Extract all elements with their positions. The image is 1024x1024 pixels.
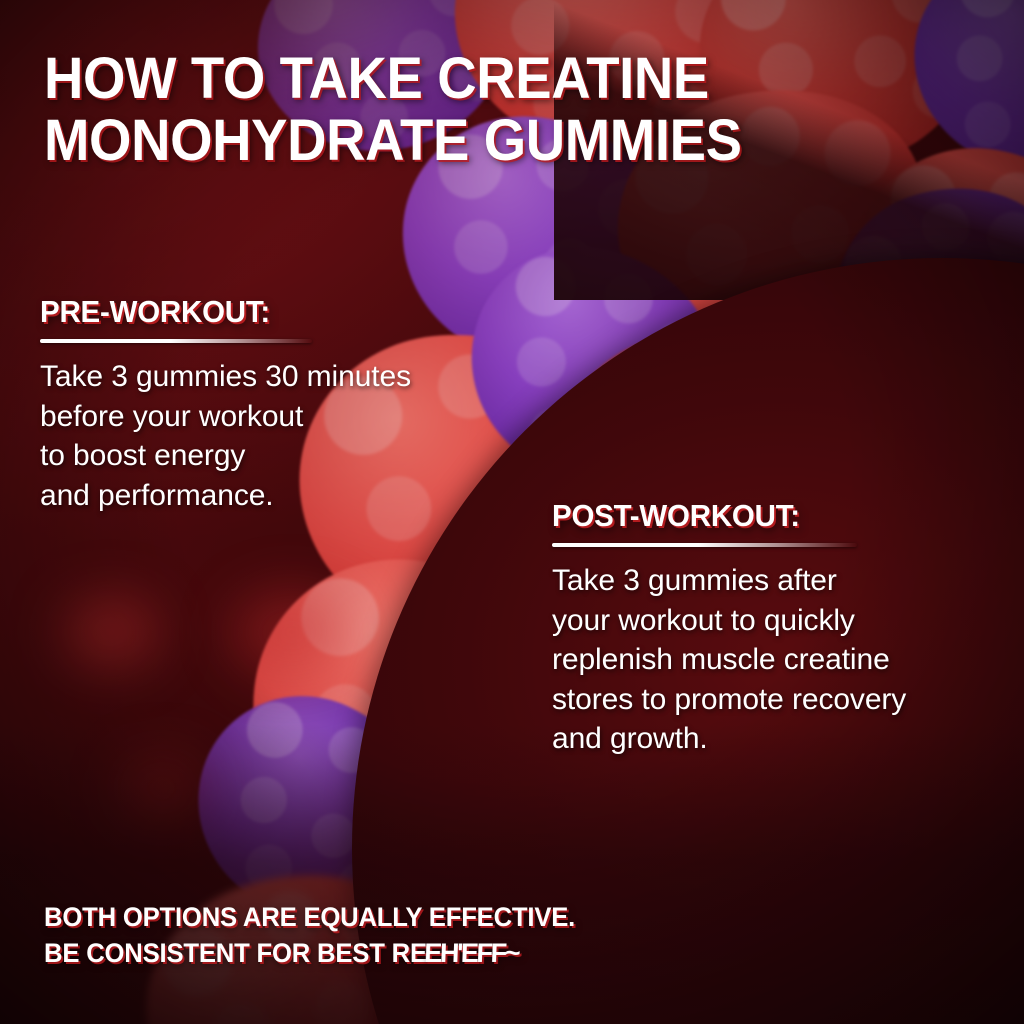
pre-workout-heading: PRE-WORKOUT: [40, 294, 487, 330]
section-pre-workout: PRE-WORKOUT: Take 3 gummies 30 minutes b… [40, 294, 510, 515]
pre-workout-body: Take 3 gummies 30 minutes before your wo… [40, 357, 510, 515]
page-title: HOW TO TAKE CREATINE MONOHYDRATE GUMMIES [44, 48, 890, 172]
poster-content: HOW TO TAKE CREATINE MONOHYDRATE GUMMIES… [0, 0, 1024, 1024]
section-post-workout: POST-WORKOUT: Take 3 gummies after your … [552, 498, 1004, 759]
footer-line-two-text: BE CONSISTENT FOR BEST RE [44, 938, 427, 968]
post-workout-body: Take 3 gummies after your workout to qui… [552, 561, 1004, 759]
post-workout-underline [552, 543, 857, 547]
post-workout-heading: POST-WORKOUT: [552, 498, 981, 534]
infographic-poster: HOW TO TAKE CREATINE MONOHYDRATE GUMMIES… [0, 0, 1024, 1024]
footer-glitched-word: EH'EFF~ [424, 936, 519, 972]
footer-note: BOTH OPTIONS ARE EQUALLY EFFECTIVE. BE C… [44, 900, 924, 972]
footer-line-one: BOTH OPTIONS ARE EQUALLY EFFECTIVE. [44, 900, 880, 936]
pre-workout-underline [40, 339, 312, 343]
footer-line-two: BE CONSISTENT FOR BEST REEH'EFF~ [44, 936, 880, 972]
